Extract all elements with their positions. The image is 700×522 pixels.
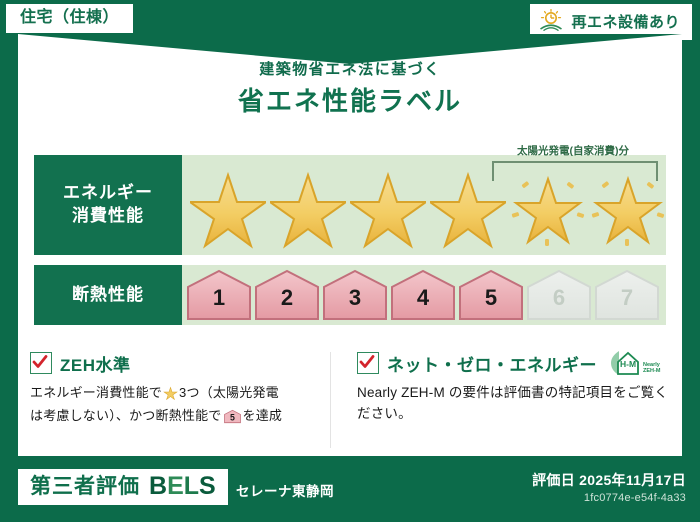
inline-star-icon bbox=[163, 388, 178, 403]
property-name: セレーナ東静岡 bbox=[236, 480, 334, 500]
criteria-columns: ZEH水準 エネルギー消費性能で3つ（太陽光発電 は考慮しない）、かつ断熱性能で… bbox=[30, 350, 674, 450]
energy-performance-label: 住宅（住棟） 再エネ設備あり 建築物省エネ法に基づく 省 bbox=[0, 0, 700, 522]
insulation-label-text: 断熱性能 bbox=[72, 284, 144, 307]
bels-logo: BELS bbox=[149, 474, 216, 499]
net-zero-energy-column: ネット・ゼロ・エネルギー H-M Nearly ZEH-M Nearly ZEH… bbox=[357, 350, 674, 450]
energy-label-line1: エネルギー bbox=[63, 182, 153, 205]
zeh-standard-heading: ZEH水準 bbox=[30, 350, 347, 376]
insulation-level-number: 3 bbox=[322, 287, 388, 309]
insulation-rating-body: 1 2 3 4 bbox=[182, 265, 666, 325]
bels-badge: 第三者評価 BELS bbox=[18, 469, 228, 505]
zeh-standard-description: エネルギー消費性能で3つ（太陽光発電 は考慮しない）、かつ断熱性能で5を達成 bbox=[30, 383, 347, 430]
zeh-standard-column: ZEH水準 エネルギー消費性能で3つ（太陽光発電 は考慮しない）、かつ断熱性能で… bbox=[30, 350, 347, 450]
svg-text:H-M: H-M bbox=[620, 359, 636, 369]
insulation-level-4: 4 bbox=[390, 269, 456, 321]
insulation-performance-row: 断熱性能 1 bbox=[34, 265, 666, 325]
insulation-level-number: 6 bbox=[526, 287, 592, 309]
net-zero-energy-title: ネット・ゼロ・エネルギー bbox=[387, 351, 597, 376]
zeh-m-logo: H-M Nearly ZEH-M bbox=[607, 349, 660, 377]
renewable-badge-label: 再エネ設備あり bbox=[571, 15, 680, 30]
evaluation-id: 1fc0774e-e54f-4a33 bbox=[584, 492, 686, 504]
insulation-level-number: 7 bbox=[594, 287, 660, 309]
column-divider bbox=[330, 352, 331, 448]
star-rating-group bbox=[182, 155, 666, 255]
star-filled-2 bbox=[270, 161, 346, 249]
insulation-level-group: 1 2 3 4 bbox=[182, 265, 666, 325]
insulation-level-number: 1 bbox=[186, 287, 252, 309]
house-type-badge: 住宅（住棟） bbox=[6, 4, 133, 33]
energy-performance-row: エネルギー 消費性能 太陽光発電(自家消費)分 bbox=[34, 155, 666, 255]
star-filled-1 bbox=[190, 161, 266, 249]
net-zero-energy-description: Nearly ZEH-M の要件は評価書の特記項目をご覧ください。 bbox=[357, 383, 674, 425]
evaluation-date: 評価日 2025年11月17日 bbox=[532, 470, 686, 490]
check-icon bbox=[357, 352, 379, 374]
insulation-level-number: 4 bbox=[390, 287, 456, 309]
insulation-level-7: 7 bbox=[594, 269, 660, 321]
inline-house-icon: 5 bbox=[224, 412, 241, 427]
insulation-level-2: 2 bbox=[254, 269, 320, 321]
svg-text:5: 5 bbox=[230, 413, 235, 423]
zeh-desc-part3: を達成 bbox=[243, 408, 283, 423]
insulation-level-1: 1 bbox=[186, 269, 252, 321]
energy-rating-body: 太陽光発電(自家消費)分 bbox=[182, 155, 666, 255]
insulation-level-number: 2 bbox=[254, 287, 320, 309]
net-zero-energy-heading: ネット・ゼロ・エネルギー H-M Nearly ZEH-M bbox=[357, 350, 674, 376]
zeh-standard-title: ZEH水準 bbox=[60, 351, 131, 376]
star-solar-5 bbox=[510, 161, 586, 249]
footer-band: 第三者評価 BELS セレーナ東静岡 評価日 2025年11月17日 1fc07… bbox=[0, 456, 700, 522]
insulation-level-number: 5 bbox=[458, 287, 524, 309]
label-subtitle: 建築物省エネ法に基づく bbox=[18, 62, 682, 79]
star-solar-6 bbox=[590, 161, 666, 249]
star-filled-4 bbox=[430, 161, 506, 249]
star-filled-3 bbox=[350, 161, 426, 249]
zeh-m-logo-sub2: ZEH-M bbox=[643, 369, 660, 375]
energy-label-line2: 消費性能 bbox=[72, 205, 144, 228]
house-type-label: 住宅（住棟） bbox=[20, 9, 119, 26]
check-icon bbox=[30, 352, 52, 374]
zeh-desc-part1: エネルギー消費性能で bbox=[30, 385, 162, 400]
insulation-level-3: 3 bbox=[322, 269, 388, 321]
third-party-eval-label: 第三者評価 bbox=[30, 476, 140, 497]
zeh-desc-part2: は考慮しない）、かつ断熱性能で bbox=[30, 408, 222, 423]
energy-performance-label: エネルギー 消費性能 bbox=[34, 155, 182, 255]
page-title: 省エネ性能ラベル bbox=[18, 87, 682, 116]
insulation-level-5: 5 bbox=[458, 269, 524, 321]
solar-sun-icon bbox=[538, 9, 564, 35]
insulation-level-6: 6 bbox=[526, 269, 592, 321]
insulation-performance-label: 断熱性能 bbox=[34, 265, 182, 325]
title-block: 建築物省エネ法に基づく 省エネ性能ラベル bbox=[18, 62, 682, 115]
zeh-desc-star-count: 3つ（太陽光発電 bbox=[179, 385, 279, 400]
